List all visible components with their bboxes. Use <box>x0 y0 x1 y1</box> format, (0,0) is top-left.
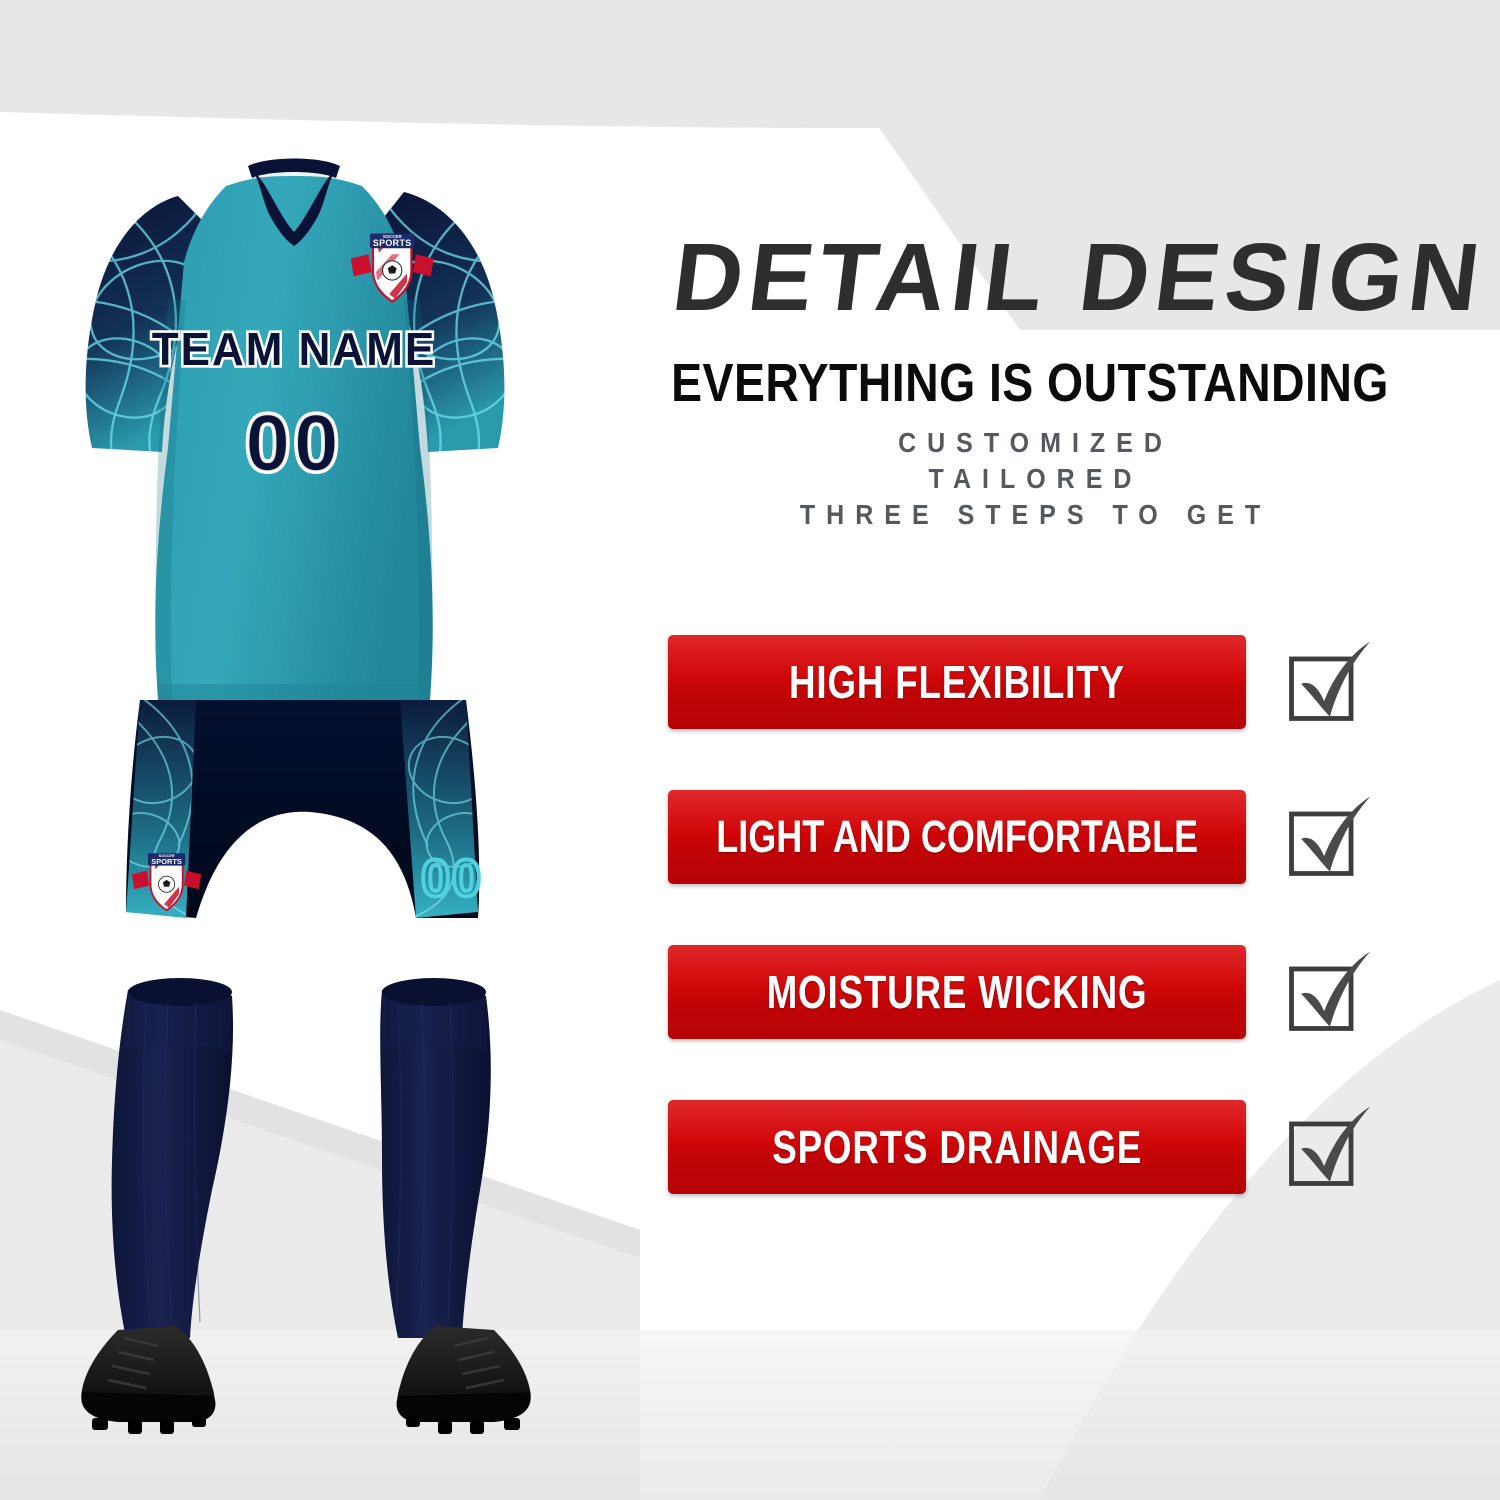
jersey-number-inner-stroke: 00 <box>246 398 343 487</box>
detail-design-title: DETAIL DESIGN <box>560 222 1500 342</box>
shorts-number: 00 <box>421 850 483 908</box>
cleat-left <box>81 1326 215 1434</box>
checkbox-checked-icon[interactable] <box>1280 1099 1376 1195</box>
shorts-crest-main-text: SPORTS <box>151 857 182 866</box>
checkbox-checked-icon[interactable] <box>1280 634 1376 730</box>
jersey-team-name: TEAM NAME <box>152 323 436 375</box>
tagline-block: CUSTOMIZED TAILORED THREE STEPS TO GET <box>560 425 1500 533</box>
feature-row-high-flexibility: HIGH FLEXIBILITY <box>668 604 1468 759</box>
feature-label: MOISTURE WICKING <box>767 965 1148 1019</box>
headline-block: DETAIL DESIGN <box>560 222 1500 342</box>
headline-subtitle: EVERYTHING IS OUTSTANDING <box>626 352 1434 414</box>
tagline-2: TAILORED <box>560 459 1500 499</box>
feature-row-light-and-comfortable: LIGHT AND COMFORTABLE <box>668 759 1468 914</box>
feature-label: LIGHT AND COMFORTABLE <box>716 811 1198 863</box>
checkbox-checked-icon[interactable] <box>1280 944 1376 1040</box>
crest-main-text: SPORTS <box>373 238 412 248</box>
feature-banner-light-and-comfortable[interactable]: LIGHT AND COMFORTABLE <box>668 790 1246 884</box>
tagline-3: THREE STEPS TO GET <box>560 495 1500 535</box>
sock-opening-right <box>382 978 486 1006</box>
svg-text:DETAIL DESIGN: DETAIL DESIGN <box>667 224 1491 331</box>
checkbox-checked-icon[interactable] <box>1280 789 1376 885</box>
tagline-1: CUSTOMIZED <box>560 423 1500 463</box>
cleat-right <box>397 1326 531 1434</box>
feature-row-moisture-wicking: MOISTURE WICKING <box>668 914 1468 1069</box>
jersey-hem <box>158 684 430 700</box>
feature-banner-high-flexibility[interactable]: HIGH FLEXIBILITY <box>668 635 1246 729</box>
feature-label: HIGH FLEXIBILITY <box>789 655 1125 709</box>
sock-opening-left <box>128 978 232 1006</box>
feature-list: HIGH FLEXIBILITY LIGHT AND COMFORTABLE M… <box>668 604 1468 1224</box>
feature-row-sports-drainage: SPORTS DRAINAGE <box>668 1069 1468 1224</box>
feature-label: SPORTS DRAINAGE <box>772 1120 1142 1174</box>
feature-banner-sports-drainage[interactable]: SPORTS DRAINAGE <box>668 1100 1246 1194</box>
product-illustration: TEAM NAME 00 00 SOCCER SPORTS <box>0 0 620 1500</box>
copy-column: DETAIL DESIGN EVERYTHING IS OUTSTANDING … <box>560 0 1500 1500</box>
feature-banner-moisture-wicking[interactable]: MOISTURE WICKING <box>668 945 1246 1039</box>
